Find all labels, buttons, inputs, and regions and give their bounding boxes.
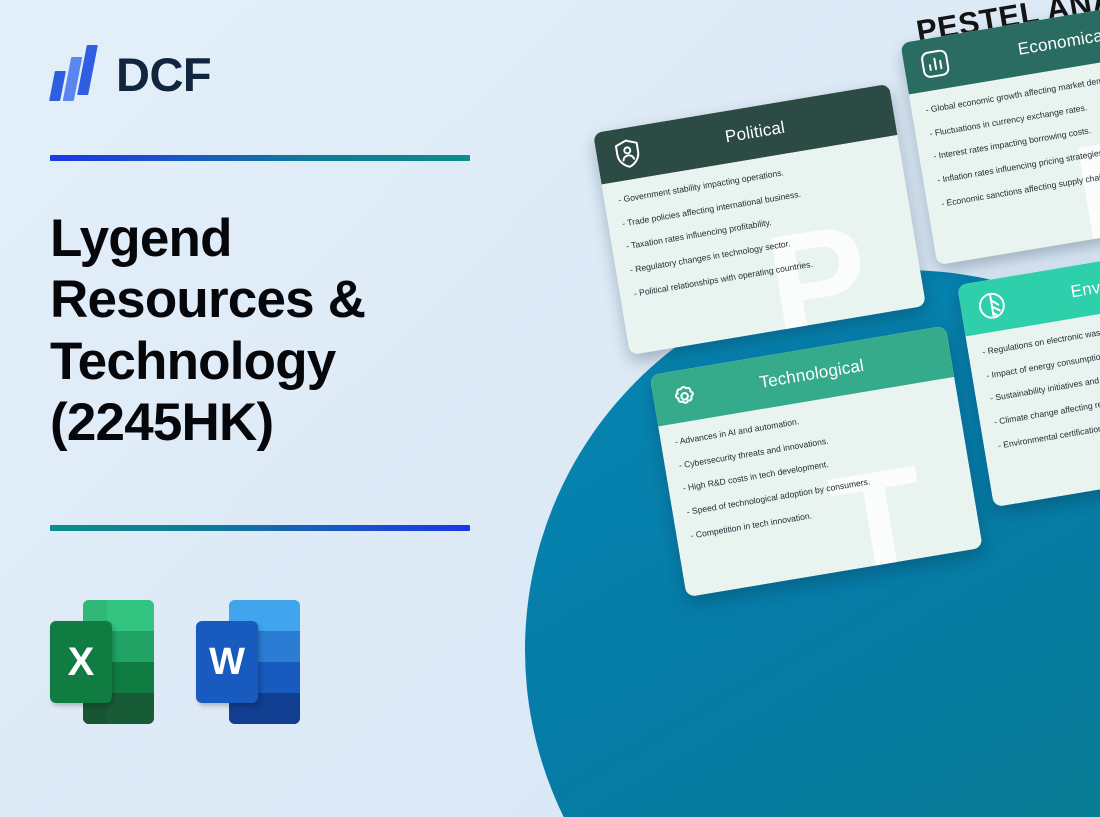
- pestel-card-environment[interactable]: Environment E Regulations on electronic …: [957, 236, 1100, 507]
- file-format-icons: X W: [50, 600, 300, 724]
- dcf-logo[interactable]: DCF: [50, 38, 211, 110]
- pestel-card-economical[interactable]: Economical E Global economic growth affe…: [900, 0, 1100, 265]
- divider-bottom: [50, 525, 470, 531]
- divider-top: [50, 155, 470, 161]
- excel-icon-letter: X: [68, 642, 95, 682]
- logo-wordmark: DCF: [116, 51, 211, 98]
- bar-chart-logo-icon: [50, 43, 106, 105]
- bar-chart-icon: [913, 42, 957, 86]
- slide-canvas: DCF Lygend Resources & Technology (2245H…: [0, 0, 1100, 817]
- leaf-icon: [970, 284, 1014, 328]
- excel-icon[interactable]: X: [50, 600, 154, 724]
- word-icon-letter: W: [209, 643, 245, 681]
- word-icon[interactable]: W: [196, 600, 300, 724]
- card-title-environment: Environment: [1009, 251, 1100, 312]
- shield-person-icon: [606, 132, 650, 176]
- page-title: Lygend Resources & Technology (2245HK): [50, 208, 480, 454]
- pestel-matrix: PESTEL ANALYSIS Political P: [584, 0, 1100, 575]
- pestel-card-political[interactable]: Political P Government stability impacti…: [593, 84, 926, 355]
- gear-icon: [663, 374, 707, 418]
- pestel-graphic: PESTEL ANALYSIS Political P: [505, 0, 1100, 817]
- left-column: DCF Lygend Resources & Technology (2245H…: [50, 30, 520, 790]
